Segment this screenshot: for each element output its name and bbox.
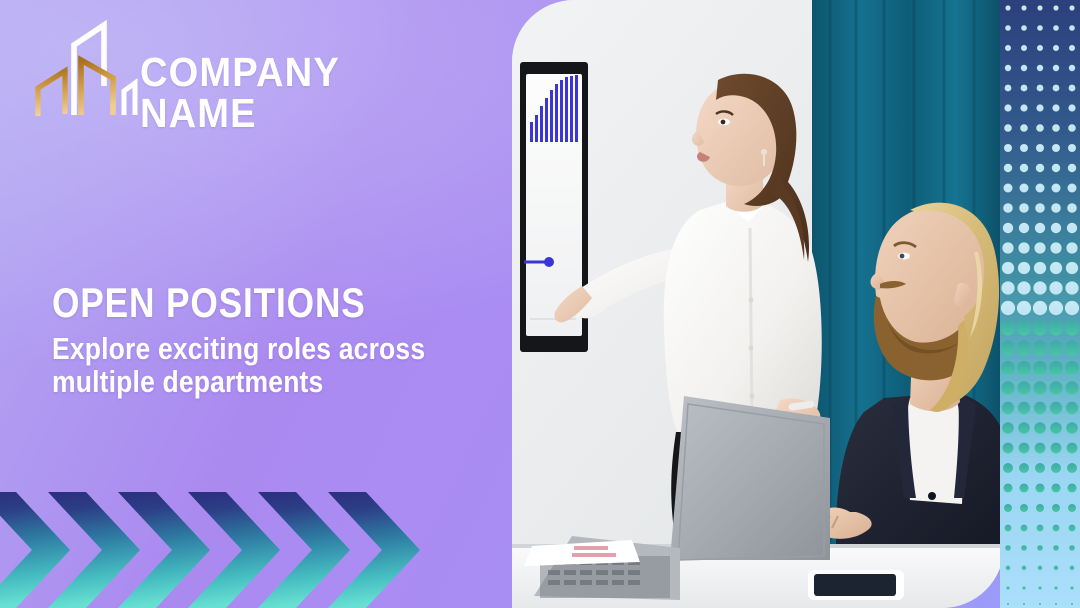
- page-subtitle: Explore exciting roles across multiple d…: [52, 332, 505, 398]
- brand-line-1: COMPANY: [140, 52, 382, 93]
- buildings-logo-icon: [18, 16, 150, 144]
- page-title: OPEN POSITIONS: [52, 282, 430, 324]
- poster-canvas: COMPANY NAME OPEN POSITIONS Explore exci…: [0, 0, 1080, 608]
- logo-lockup: COMPANY NAME: [18, 16, 318, 146]
- halftone-dot-strip: [1000, 0, 1080, 608]
- copy-block: OPEN POSITIONS Explore exciting roles ac…: [52, 282, 502, 398]
- team-meeting-photo: [512, 0, 1004, 608]
- brand-name: COMPANY NAME: [140, 52, 382, 133]
- chevron-decoration: [0, 488, 452, 608]
- smartphone: [808, 570, 904, 600]
- brand-line-2: NAME: [140, 93, 382, 134]
